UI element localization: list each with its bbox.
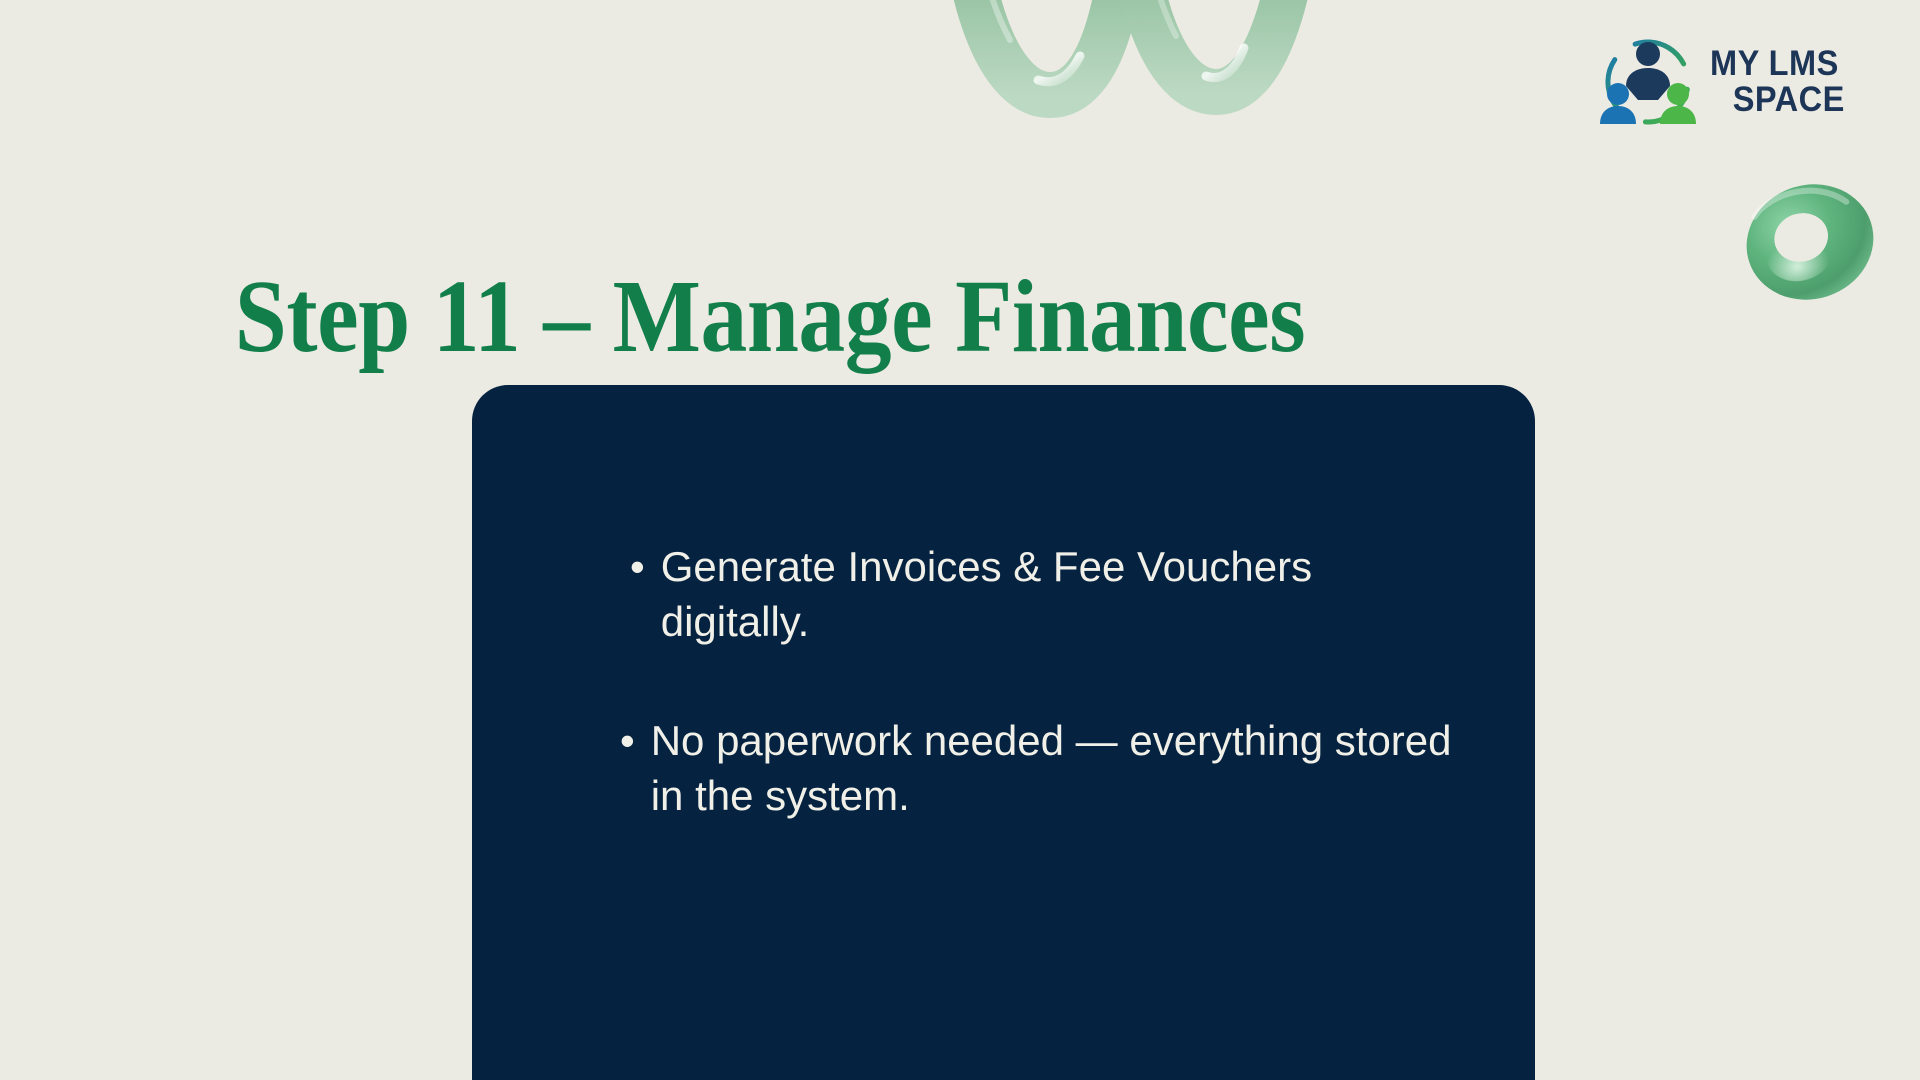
brand-logo-line-2: SPACE: [1733, 82, 1849, 118]
list-item: • Generate Invoices & Fee Vouchers digit…: [472, 540, 1535, 649]
bullet-text: Generate Invoices & Fee Vouchers digital…: [661, 540, 1385, 649]
bullet-text: No paperwork needed — everything stored …: [651, 714, 1475, 823]
three-people-circle-icon: [1596, 30, 1700, 134]
brand-logo-text: MY LMS SPACE: [1710, 46, 1848, 117]
torus-donut-3d: [1735, 175, 1885, 310]
slide-canvas: MY LMS SPACE Step 11 – Manage Finances •…: [0, 0, 1920, 1080]
bullet-dot-icon: •: [620, 714, 635, 769]
bullet-dot-icon: •: [630, 540, 645, 595]
bullet-list: • Generate Invoices & Fee Vouchers digit…: [472, 540, 1535, 823]
slide-title: Step 11 – Manage Finances: [77, 262, 1463, 371]
brand-logo[interactable]: MY LMS SPACE: [1596, 28, 1886, 136]
wavy-squiggle-3d: [930, 0, 1470, 180]
brand-logo-line-1: MY LMS: [1710, 46, 1839, 82]
content-card: • Generate Invoices & Fee Vouchers digit…: [472, 385, 1535, 1080]
list-item: • No paperwork needed — everything store…: [472, 714, 1535, 823]
